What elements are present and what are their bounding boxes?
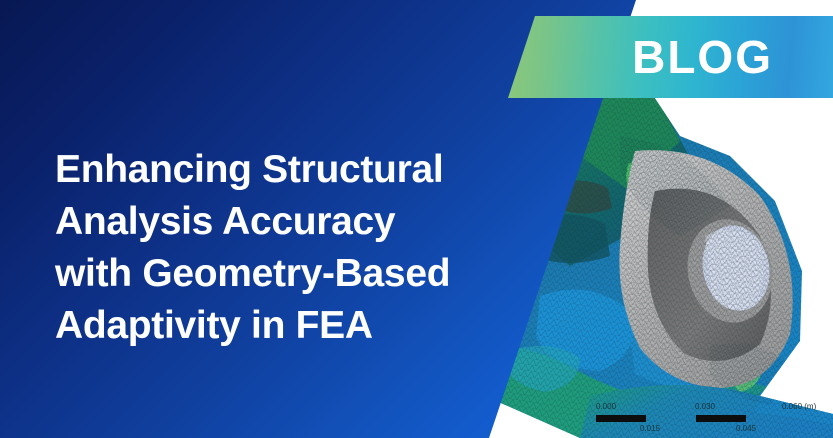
scale-label-045: 0.045 <box>736 425 756 433</box>
title-line-4: Adaptivity in FEA <box>55 300 525 352</box>
title-line-3: with Geometry-Based <box>55 248 525 300</box>
blog-ribbon-label: BLOG <box>632 34 773 80</box>
title-line-1: Enhancing Structural <box>55 144 525 196</box>
scale-bar-segments <box>596 415 796 422</box>
scale-label-0: 0.000 <box>596 403 616 411</box>
title-line-2: Analysis Accuracy <box>55 196 525 248</box>
blog-ribbon: BLOG <box>508 16 833 98</box>
scale-label-030: 0.030 <box>695 403 715 411</box>
scale-label-015: 0.015 <box>640 425 660 433</box>
scale-segment <box>596 415 646 422</box>
model-scale-bar: 0.000 0.030 0.060 (m) 0.015 0.045 <box>596 402 824 436</box>
scale-segment <box>746 415 796 422</box>
scale-segment <box>646 415 696 422</box>
page-title: Enhancing Structural Analysis Accuracy w… <box>55 144 525 352</box>
scale-segment <box>696 415 746 422</box>
blog-hero-banner: 0.000 0.030 0.060 (m) 0.015 0.045 Enhanc… <box>0 0 833 438</box>
scale-label-060: 0.060 (m) <box>782 403 816 411</box>
